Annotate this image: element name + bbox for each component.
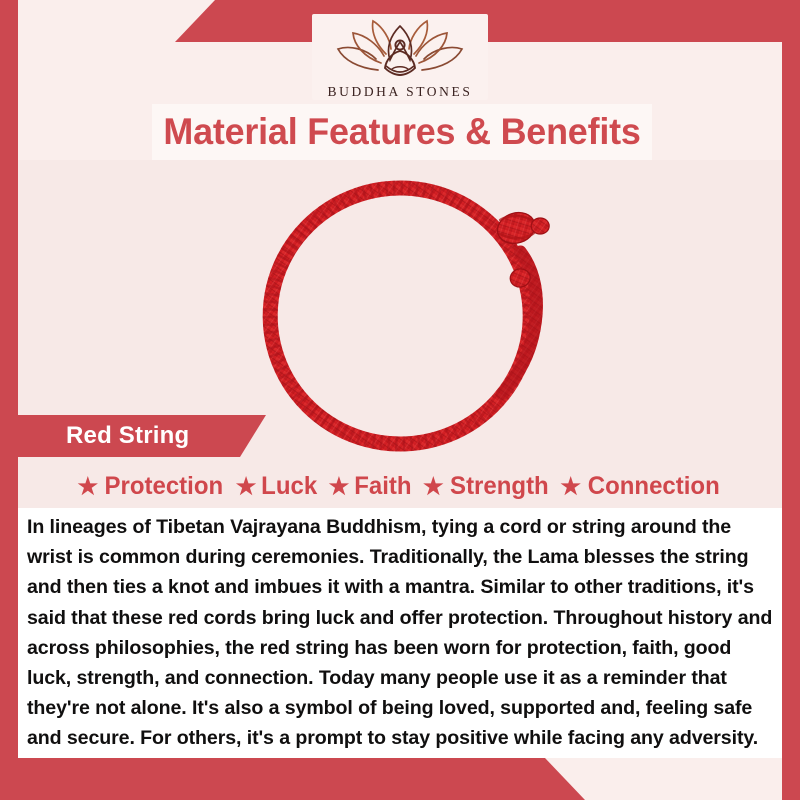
bottom-accent-bar — [0, 758, 800, 800]
star-icon: ★ — [329, 475, 350, 498]
brand-wordmark: BUDDHA STONES — [328, 84, 473, 100]
benefit-item-luck: ★ Luck — [231, 472, 324, 501]
description-text: In lineages of Tibetan Vajrayana Buddhis… — [27, 512, 775, 754]
star-icon: ★ — [77, 475, 98, 498]
benefit-label: Connection — [588, 472, 720, 501]
bracelet-illustration — [248, 166, 578, 456]
benefit-label: Faith — [354, 472, 411, 501]
product-label-banner: Red String — [18, 415, 266, 457]
benefit-label: Strength — [450, 472, 549, 501]
star-icon: ★ — [423, 475, 444, 498]
top-accent-bar — [0, 0, 800, 42]
benefit-item-connection: ★ Connection — [555, 472, 727, 501]
product-infographic: In lineages of Tibetan Vajrayana Buddhis… — [0, 0, 800, 800]
page-title: Material Features & Benefits — [163, 111, 640, 153]
description-panel: In lineages of Tibetan Vajrayana Buddhis… — [18, 508, 782, 758]
benefit-item-strength: ★ Strength — [418, 472, 555, 501]
star-icon: ★ — [236, 475, 257, 498]
benefit-item-protection: ★ Protection — [72, 472, 230, 501]
title-banner: Material Features & Benefits — [152, 104, 652, 160]
benefit-label: Protection — [105, 472, 224, 501]
red-string-bracelet-image — [248, 166, 578, 461]
star-icon: ★ — [560, 475, 581, 498]
left-accent-strip — [0, 0, 18, 800]
product-image-area — [18, 160, 782, 510]
right-accent-strip — [782, 0, 800, 800]
product-label-text: Red String — [66, 422, 189, 450]
benefit-label: Luck — [261, 472, 317, 501]
benefit-item-faith: ★ Faith — [324, 472, 418, 501]
benefits-row: ★ Protection ★ Luck ★ Faith ★ Strength ★… — [18, 466, 782, 506]
